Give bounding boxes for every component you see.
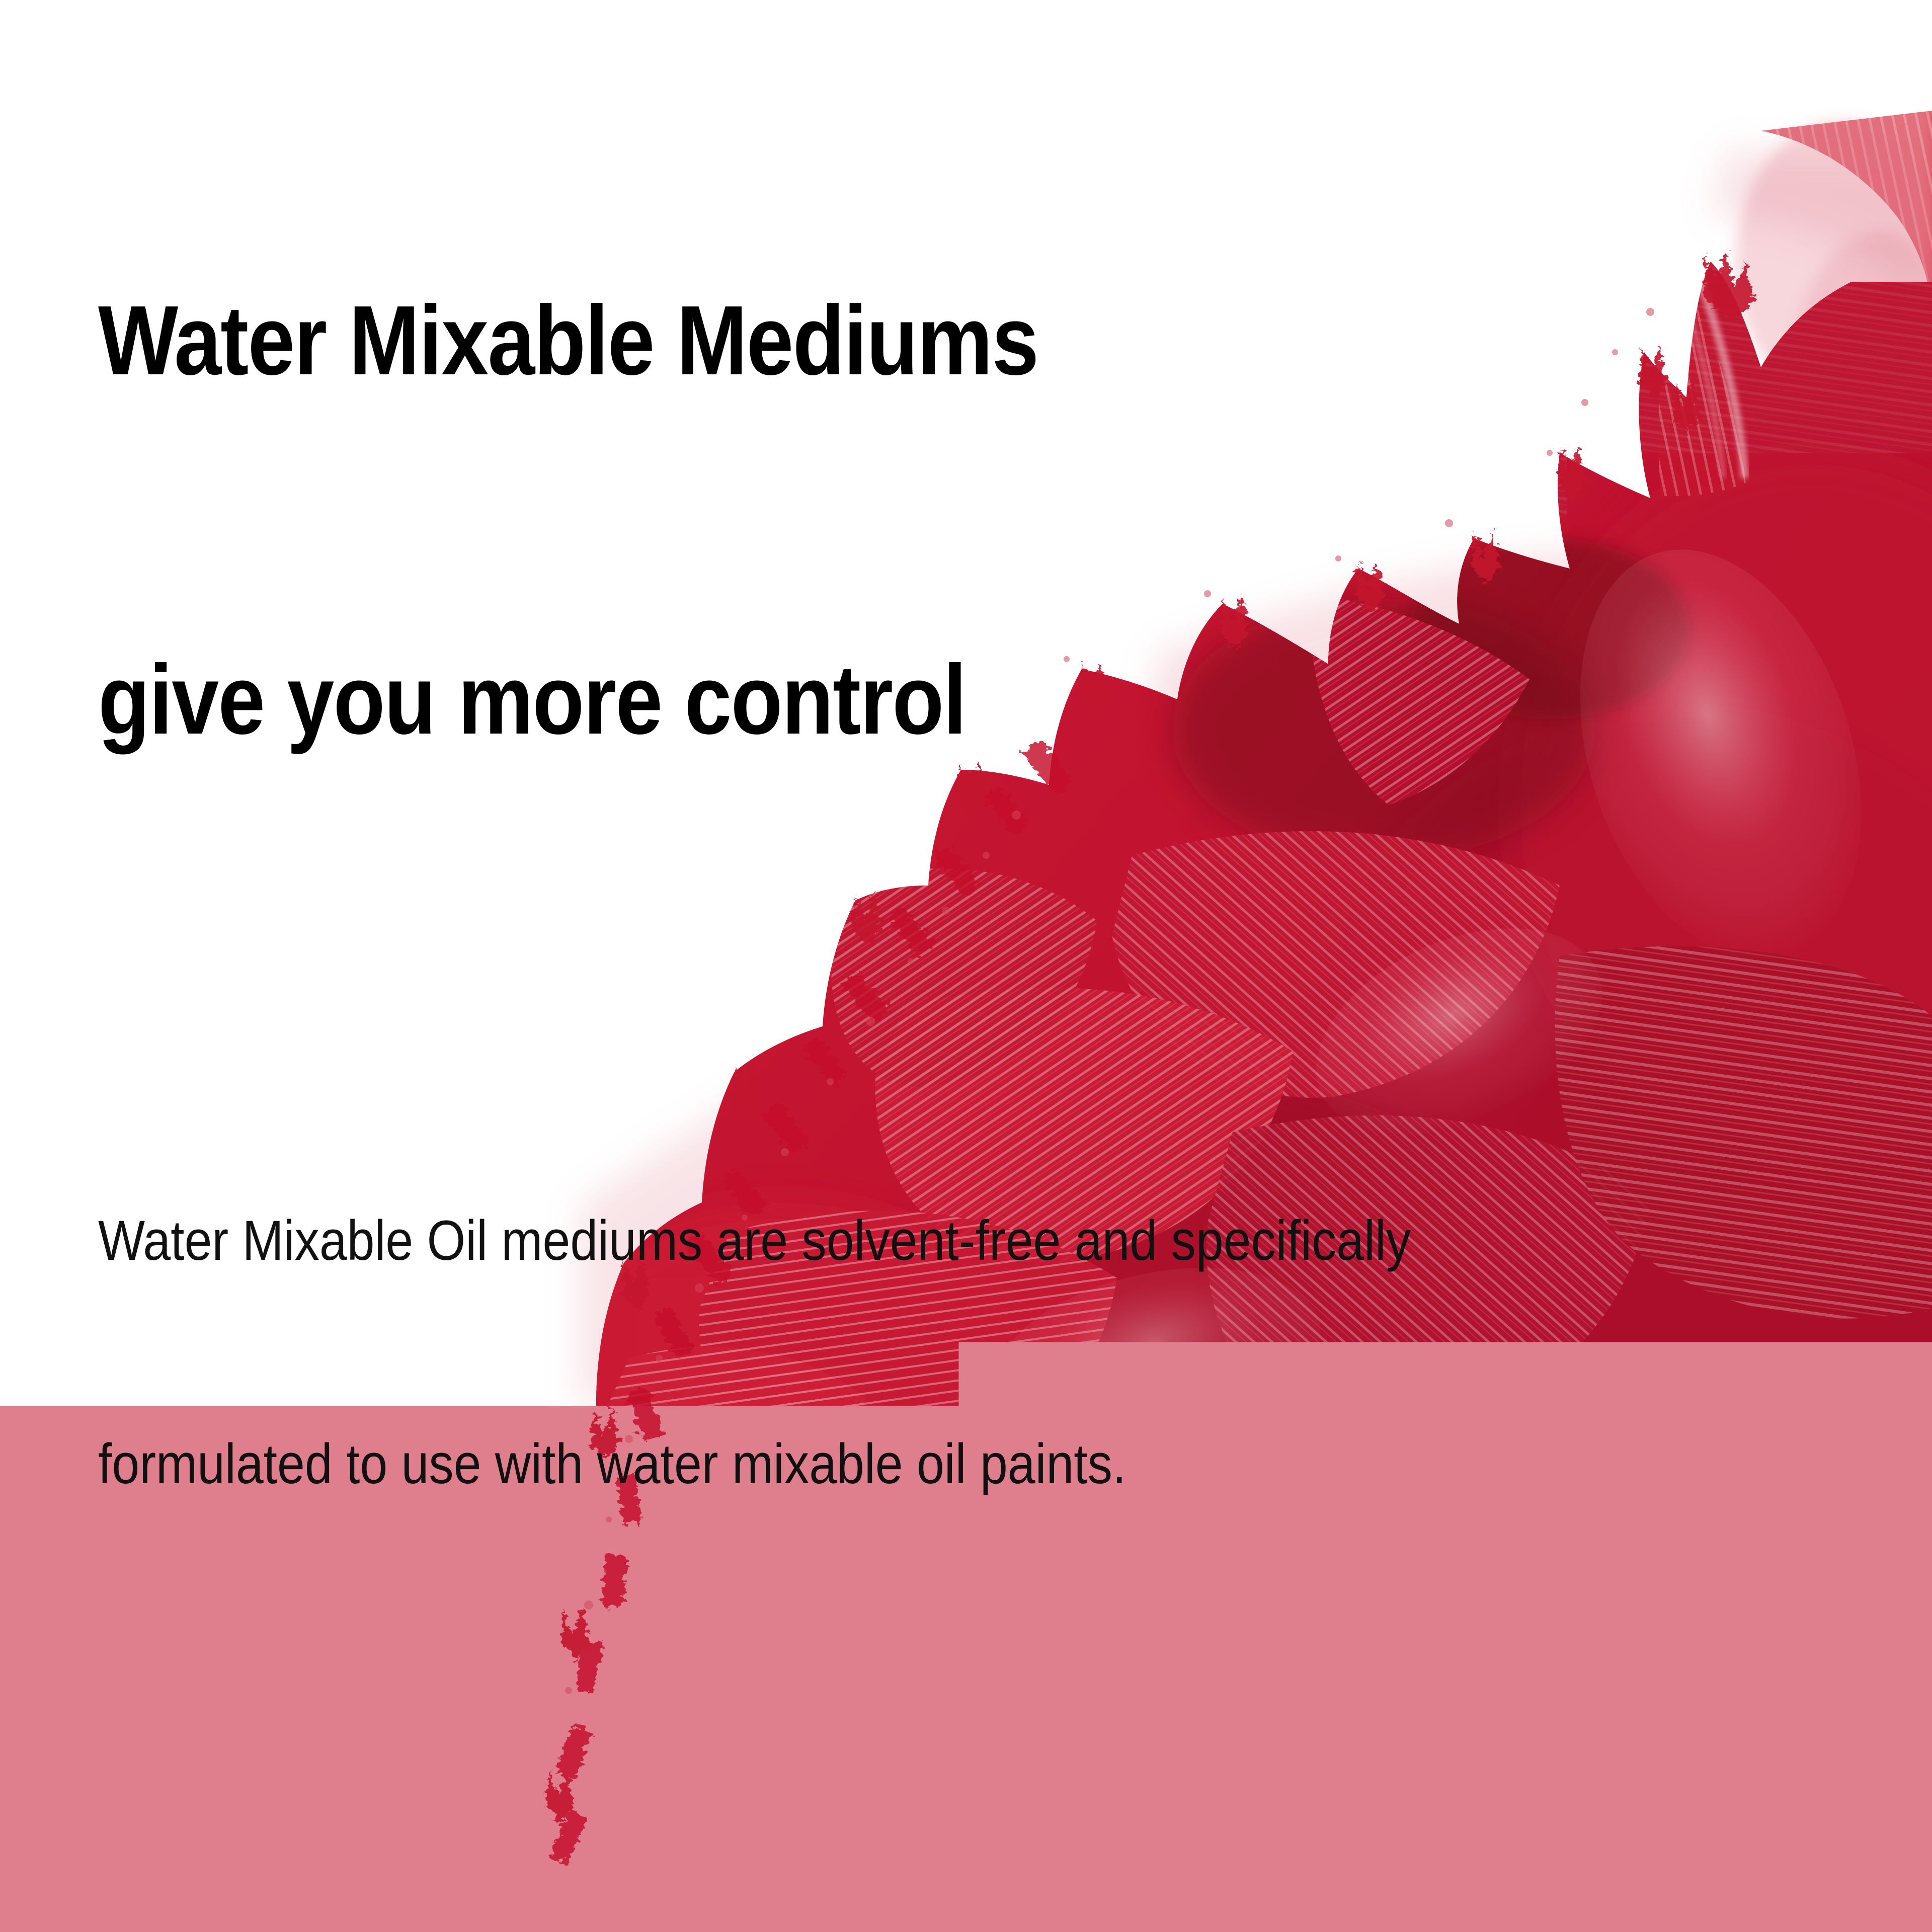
text-content: Water Mixable Mediums give you more cont… (98, 0, 1306, 1932)
paint-upper-right-wash (1721, 101, 1932, 362)
intro-paragraph: Water Mixable Oil mediums are solvent-fr… (98, 999, 1161, 1650)
headline-line-1: Water Mixable Mediums (98, 281, 1137, 400)
page-title: Water Mixable Mediums give you more cont… (98, 0, 1137, 999)
intro-line-2: formulated to use with water mixable oil… (98, 1427, 1161, 1501)
benefits-list: They can: Speed up or slow down drying t… (98, 1650, 1161, 1932)
intro-line-1: Water Mixable Oil mediums are solvent-fr… (98, 1203, 1161, 1278)
list-intro-label: They can: (98, 1900, 1161, 1932)
headline-line-2: give you more control (98, 640, 1137, 760)
poster-canvas: Water Mixable Mediums give you more cont… (0, 0, 1932, 1932)
paint-wash-feather (1736, 121, 1932, 533)
